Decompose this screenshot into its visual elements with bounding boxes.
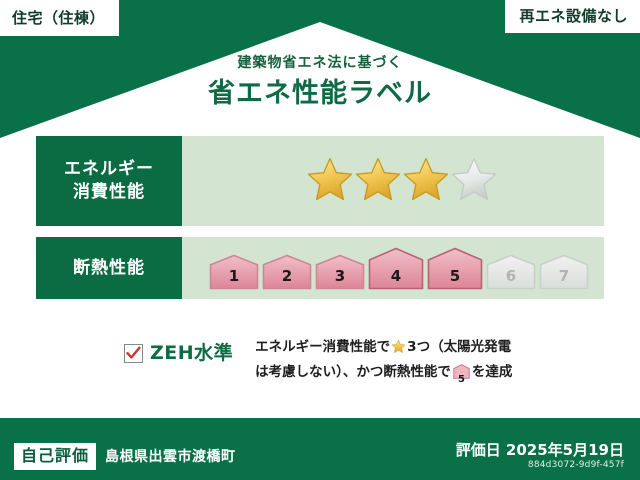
insulation-performance-value: 1234567 <box>182 237 604 299</box>
insulation-level-chip-number: 1 <box>209 269 259 284</box>
footer-right-group: 評価日 2025年5月19日 884d3072-9d9f-457f <box>456 442 624 471</box>
insulation-level-chip: 7 <box>539 254 589 290</box>
performance-rows: エネルギー 消費性能 断熱性能 1234567 <box>36 136 604 310</box>
star-icon-filled <box>403 156 449 206</box>
energy-performance-label: 住宅（住棟） 再エネ設備なし 建築物省エネ法に基づく 省エネ性能ラベル エネルギ… <box>0 0 640 480</box>
energy-performance-value <box>182 136 604 226</box>
insulation-level-chip-number: 5 <box>427 269 483 284</box>
insulation-level-chip: 2 <box>262 254 312 290</box>
footer-left-group: 自己評価 島根県出雲市渡橋町 <box>14 443 236 470</box>
zeh-description-part3: を達成 <box>472 364 513 380</box>
star-icon-filled <box>307 156 353 206</box>
insulation-level-chip: 1 <box>209 254 259 290</box>
insulation-level-chip-number: 3 <box>315 269 365 284</box>
energy-performance-label-line1: エネルギー <box>64 158 154 181</box>
building-type-badge: 住宅（住棟） <box>0 0 119 36</box>
evaluation-id: 884d3072-9d9f-457f <box>456 460 624 470</box>
inline-level-chip-number: 5 <box>453 375 470 385</box>
renewable-energy-badge: 再エネ設備なし <box>505 0 640 33</box>
star-icon <box>391 339 406 361</box>
insulation-level-chip-number: 6 <box>486 269 536 284</box>
insulation-performance-label-line1: 断熱性能 <box>73 257 145 280</box>
insulation-level-scale: 1234567 <box>209 247 589 290</box>
label-title-block: 建築物省エネ法に基づく 省エネ性能ラベル <box>0 55 640 110</box>
insulation-performance-label: 断熱性能 <box>36 237 182 299</box>
check-icon <box>126 346 141 361</box>
zeh-label: ZEH水準 <box>150 344 233 363</box>
location-text: 島根県出雲市渡橋町 <box>105 446 236 466</box>
inline-level-chip: 5 <box>453 364 470 386</box>
renewable-energy-badge-label: 再エネ設備なし <box>519 9 628 24</box>
title-subtitle: 建築物省エネ法に基づく <box>0 55 640 72</box>
zeh-description-part1: エネルギー消費性能で <box>255 339 390 355</box>
insulation-level-chip: 6 <box>486 254 536 290</box>
insulation-level-chip: 4 <box>368 247 424 290</box>
evaluation-type-badge: 自己評価 <box>14 443 96 470</box>
zeh-description: エネルギー消費性能で 3つ（太陽光発電 は考慮しない）、かつ断熱性能で <box>255 336 512 387</box>
star-icon-filled <box>355 156 401 206</box>
star-icon-empty <box>451 156 497 206</box>
zeh-description-star-count: 3つ（太陽光発電 <box>407 339 511 355</box>
evaluation-date: 評価日 2025年5月19日 <box>456 442 624 459</box>
insulation-level-chip: 5 <box>427 247 483 290</box>
zeh-mark: ZEH水準 <box>124 344 233 363</box>
label-footer: 自己評価 島根県出雲市渡橋町 評価日 2025年5月19日 884d3072-9… <box>0 432 640 480</box>
page-title: 省エネ性能ラベル <box>0 78 640 110</box>
star-rating <box>307 156 497 206</box>
zeh-checkbox[interactable] <box>124 344 143 363</box>
insulation-level-chip-number: 7 <box>539 269 589 284</box>
insulation-level-chip-number: 2 <box>262 269 312 284</box>
energy-performance-label: エネルギー 消費性能 <box>36 136 182 226</box>
building-type-badge-label: 住宅（住棟） <box>12 11 105 26</box>
insulation-level-chip-number: 4 <box>368 269 424 284</box>
insulation-performance-row: 断熱性能 1234567 <box>36 237 604 299</box>
zeh-section: ZEH水準 エネルギー消費性能で 3つ（太陽光発電 は考慮しない）、かつ断熱性能… <box>36 336 604 387</box>
energy-performance-row: エネルギー 消費性能 <box>36 136 604 226</box>
insulation-level-chip: 3 <box>315 254 365 290</box>
zeh-description-part2: は考慮しない）、かつ断熱性能で <box>255 364 451 380</box>
energy-performance-label-line2: 消費性能 <box>73 181 145 204</box>
